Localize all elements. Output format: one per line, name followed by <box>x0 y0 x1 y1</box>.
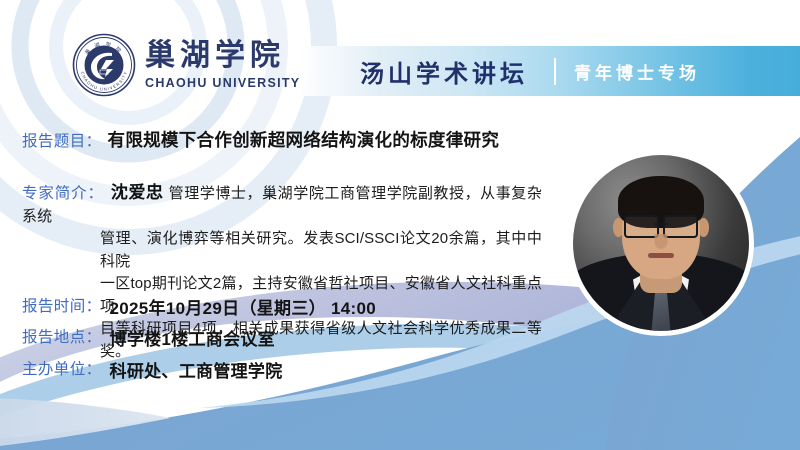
row-report-place: 报告地点： 博学楼1楼工商会议室 <box>22 325 275 350</box>
label-speaker-bio: 专家简介： <box>22 185 104 202</box>
value-report-time: 2025年10月29日（星期三） 14:00 <box>110 294 376 319</box>
portrait-nose <box>655 234 668 249</box>
row-organizer: 主办单位： 科研处、工商管理学院 <box>22 357 283 382</box>
speaker-portrait <box>568 150 754 336</box>
seminar-poster: 巢 湖 学 院 CHAOHU UNIVERSITY 巢湖学院 CHAOHU UN… <box>0 0 800 450</box>
bio-line-2: 管理、演化博弈等相关研究。发表SCI/SSCI论文20余篇，其中中科院 <box>22 228 542 273</box>
portrait-photo <box>573 155 749 331</box>
value-report-place: 博学楼1楼工商会议室 <box>110 325 275 350</box>
row-report-title: 报告题目： 有限规模下合作创新超网络结构演化的标度律研究 <box>22 127 499 152</box>
label-report-title: 报告题目： <box>22 127 102 151</box>
value-organizer: 科研处、工商管理学院 <box>110 357 283 382</box>
label-report-time: 报告时间： <box>22 294 102 316</box>
label-report-place: 报告地点： <box>22 325 102 347</box>
portrait-mouth <box>648 253 674 258</box>
value-report-title: 有限规模下合作创新超网络结构演化的标度律研究 <box>108 127 500 152</box>
row-report-time: 报告时间： 2025年10月29日（星期三） 14:00 <box>22 294 376 319</box>
label-organizer: 主办单位： <box>22 357 102 379</box>
speaker-name: 沈爱忠 <box>111 183 164 202</box>
portrait-glasses-bridge <box>655 223 668 225</box>
